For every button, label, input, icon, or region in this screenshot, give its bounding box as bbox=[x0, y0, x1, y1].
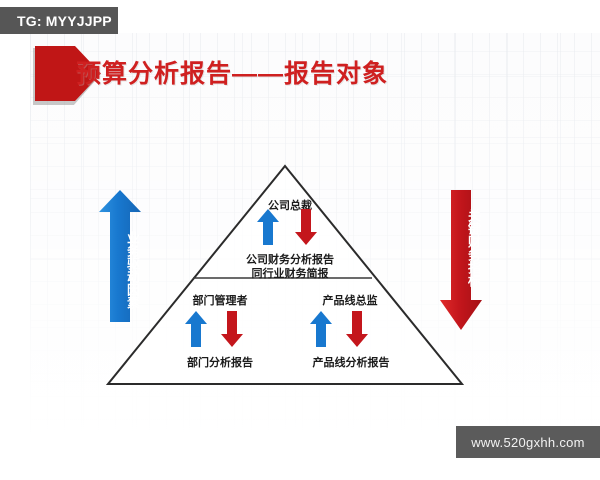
department-flow-arrows bbox=[185, 311, 243, 347]
watermark-label: www.520gxhh.com bbox=[471, 435, 585, 450]
arrow-down-icon bbox=[346, 311, 368, 347]
ceo-flow-arrows bbox=[257, 209, 317, 245]
product-line-flow-arrows bbox=[310, 311, 368, 347]
node-department-manager: 部门管理者 bbox=[165, 292, 275, 308]
watermark: www.520gxhh.com bbox=[456, 426, 600, 458]
node-product-line-director: 产品线总监 bbox=[290, 292, 410, 308]
arrow-down-icon bbox=[221, 311, 243, 347]
arrow-down-icon bbox=[295, 209, 317, 245]
tg-badge-label: TG: MYYJJPP bbox=[17, 13, 112, 29]
node-department-analysis-report: 部门分析报告 bbox=[160, 354, 280, 370]
arrow-up-icon bbox=[257, 209, 279, 245]
page-title: 预算分析报告——报告对象 bbox=[76, 54, 388, 90]
arrow-up-icon bbox=[310, 311, 332, 347]
slide-canvas: TG: MYYJJPP 预算分析报告——报告对象 业务驱动因素 bbox=[0, 0, 600, 480]
tg-badge: TG: MYYJJPP bbox=[0, 7, 118, 34]
node-industry-financial-brief: 同行业财务简报 bbox=[0, 265, 590, 281]
arrow-up-icon bbox=[185, 311, 207, 347]
node-product-line-analysis-report: 产品线分析报告 bbox=[285, 354, 417, 370]
